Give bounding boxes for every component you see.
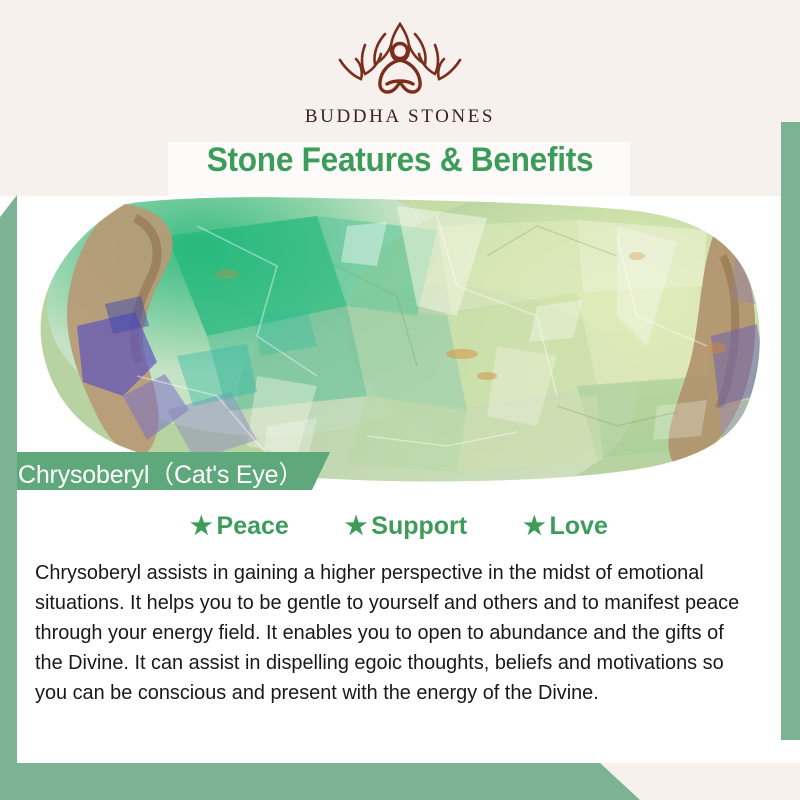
benefit-love: ★ Love — [523, 512, 608, 541]
frame-left-accent — [0, 195, 17, 780]
star-icon: ★ — [190, 514, 212, 539]
benefit-peace: ★ Peace — [190, 512, 289, 541]
star-icon: ★ — [345, 514, 367, 539]
stone-description: Chrysoberyl assists in gaining a higher … — [35, 558, 739, 708]
page-title: Stone Features & Benefits — [28, 141, 772, 180]
benefits-row: ★ Peace ★ Support ★ Love — [17, 512, 781, 541]
benefit-label: Love — [550, 512, 608, 541]
stone-name-label: Chrysoberyl（Cat's Eye） — [18, 455, 303, 491]
benefit-label: Support — [371, 512, 467, 541]
lotus-meditation-icon — [325, 14, 475, 100]
benefit-label: Peace — [217, 512, 289, 541]
stone-photo — [17, 196, 781, 486]
brand-logo: BUDDHA STONES — [0, 14, 800, 128]
stone-info-card: BUDDHA STONES Stone Features & Benefits — [0, 0, 800, 800]
brand-wordmark: BUDDHA STONES — [305, 106, 495, 128]
benefit-support: ★ Support — [345, 512, 467, 541]
frame-right-accent — [781, 122, 800, 740]
frame-bottom-accent — [0, 763, 640, 800]
star-icon: ★ — [523, 514, 545, 539]
